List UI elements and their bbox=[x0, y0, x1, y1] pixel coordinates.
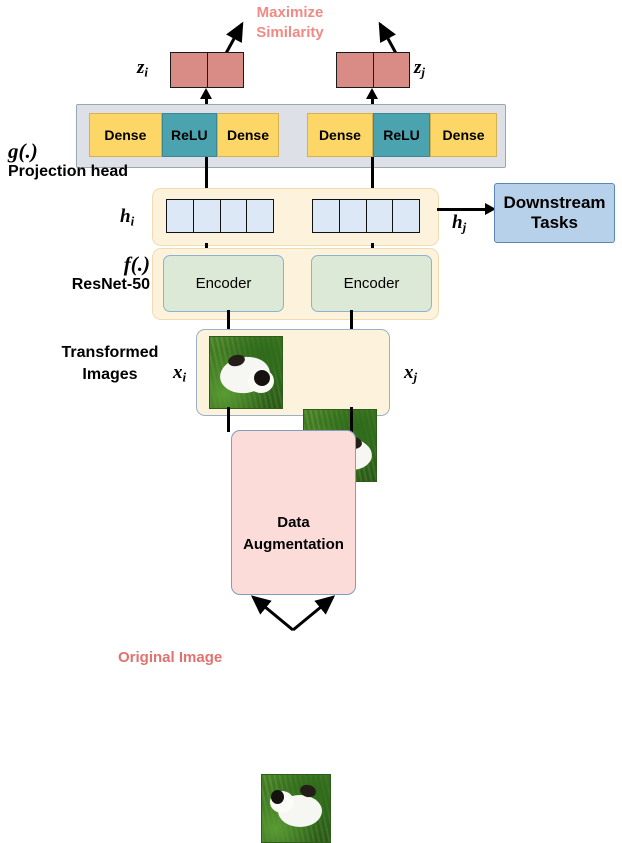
augmentation-line-1: Data bbox=[243, 512, 344, 534]
z-i-cell bbox=[170, 52, 208, 88]
x-j-label: xj bbox=[404, 362, 417, 386]
dog-ear-patch bbox=[271, 790, 284, 804]
h-j-cell bbox=[312, 199, 340, 233]
projection-head-right-stack: Dense ReLU Dense bbox=[307, 113, 497, 157]
h-j-cell bbox=[393, 199, 420, 233]
dense-block-left-2[interactable]: Dense bbox=[217, 113, 279, 157]
original-image-label: Original Image bbox=[118, 649, 222, 666]
original-image bbox=[261, 774, 331, 843]
h-i-cell bbox=[221, 199, 248, 233]
z-j-label: zj bbox=[414, 57, 425, 81]
augmentation-line-2: Augmentation bbox=[243, 534, 344, 556]
connector-aug-to-x-j bbox=[350, 407, 353, 432]
x-i-letter: x bbox=[173, 362, 183, 383]
data-augmentation-box[interactable]: Data Augmentation bbox=[231, 430, 356, 595]
transformed-images-label: Transformed Images bbox=[46, 342, 174, 385]
encoder-right-box[interactable]: Encoder bbox=[311, 255, 432, 312]
connector-h-j-to-downstream bbox=[437, 208, 486, 211]
dense-block-right-1[interactable]: Dense bbox=[307, 113, 373, 157]
resnet-label: ResNet-50 bbox=[40, 276, 150, 294]
encoder-left-box[interactable]: Encoder bbox=[163, 255, 284, 312]
encoder-label-group: f(.) ResNet-50 bbox=[40, 253, 150, 294]
z-i-label: zi bbox=[137, 57, 148, 81]
transformed-label-line-2: Images bbox=[46, 364, 174, 386]
g-function-label: g(.) bbox=[8, 140, 158, 162]
x-j-subscript: j bbox=[414, 370, 418, 385]
x-i-subscript: i bbox=[183, 370, 187, 385]
h-i-vector bbox=[166, 199, 274, 233]
connector-aug-to-x-i bbox=[227, 407, 230, 432]
h-j-letter: h bbox=[452, 212, 463, 233]
h-i-cell bbox=[247, 199, 274, 233]
z-i-cell bbox=[208, 52, 245, 88]
downstream-line-2: Tasks bbox=[531, 213, 578, 233]
z-i-subscript: i bbox=[144, 65, 148, 80]
h-j-cell bbox=[367, 199, 394, 233]
z-j-cell bbox=[374, 52, 411, 88]
h-i-subscript: i bbox=[131, 214, 135, 229]
augmentation-input-arrows bbox=[231, 590, 355, 635]
x-i-label: xi bbox=[173, 362, 186, 386]
h-j-cell bbox=[340, 199, 367, 233]
z-j-subscript: j bbox=[421, 65, 425, 80]
arrowhead-head-to-z-i bbox=[200, 88, 212, 99]
h-j-vector bbox=[312, 199, 420, 233]
h-i-label: hi bbox=[120, 206, 134, 230]
downstream-line-1: Downstream bbox=[503, 193, 605, 213]
augmentation-label-group: Data Augmentation bbox=[243, 512, 344, 556]
dog-ear-patch bbox=[254, 370, 270, 386]
transformed-label-line-1: Transformed bbox=[46, 342, 174, 364]
z-j-vector bbox=[336, 52, 410, 88]
h-i-cell bbox=[166, 199, 194, 233]
transformed-image-left bbox=[209, 336, 283, 409]
h-i-letter: h bbox=[120, 206, 131, 227]
h-j-label: hj bbox=[452, 212, 466, 236]
z-j-cell bbox=[336, 52, 374, 88]
h-i-cell bbox=[194, 199, 221, 233]
x-j-letter: x bbox=[404, 362, 414, 383]
relu-block-right[interactable]: ReLU bbox=[373, 113, 430, 157]
downstream-tasks-box[interactable]: Downstream Tasks bbox=[494, 183, 615, 243]
relu-block-left[interactable]: ReLU bbox=[162, 113, 217, 157]
h-j-subscript: j bbox=[463, 220, 467, 235]
projection-head-name-label: Projection head bbox=[8, 163, 158, 181]
z-i-vector bbox=[170, 52, 244, 88]
dense-block-right-2[interactable]: Dense bbox=[430, 113, 497, 157]
f-function-label: f(.) bbox=[40, 253, 150, 275]
arrowhead-head-to-z-j bbox=[366, 88, 378, 99]
projection-head-label-group: g(.) Projection head bbox=[8, 140, 158, 181]
